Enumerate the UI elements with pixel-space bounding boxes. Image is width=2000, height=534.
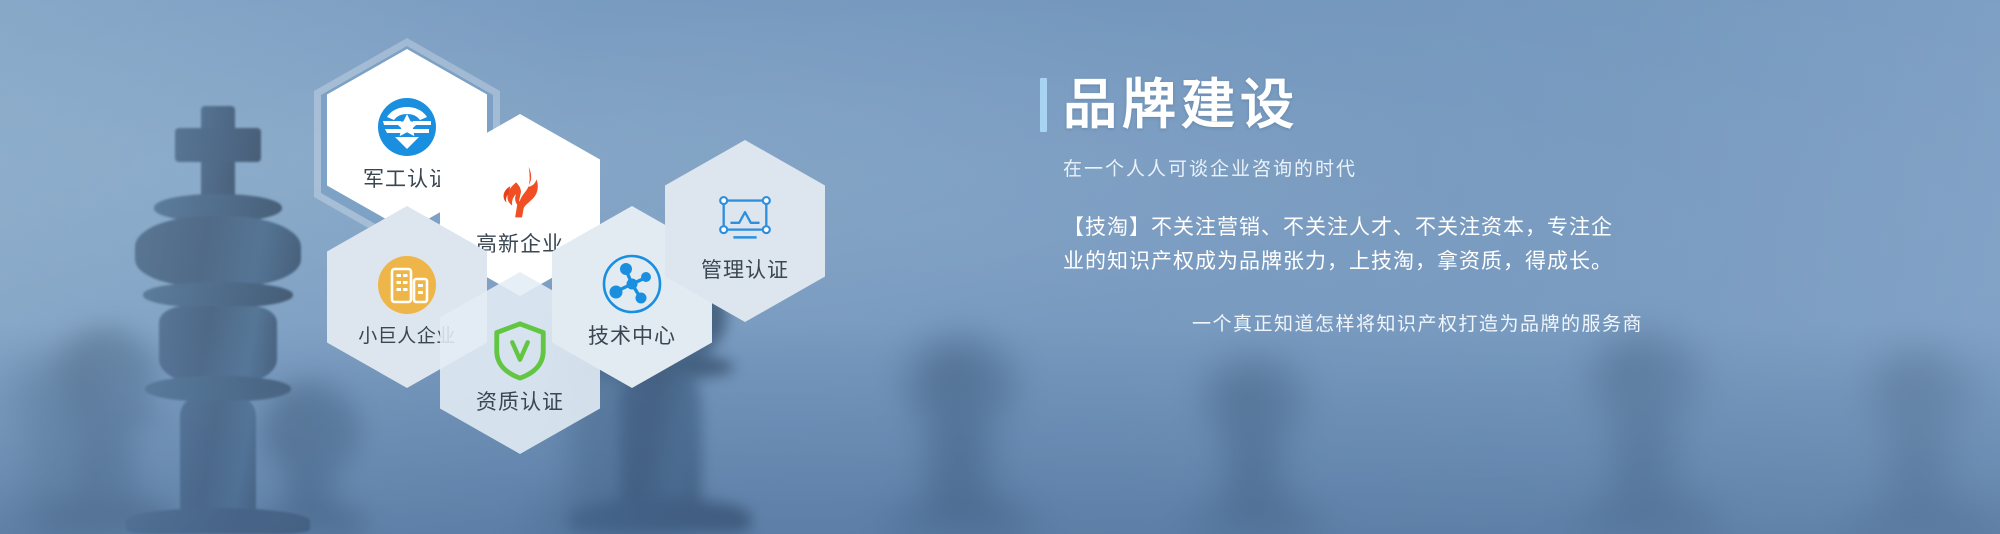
- military-shield-star-icon: [371, 91, 443, 163]
- banner-body-copy: 【技淘】不关注营销、不关注人才、不关注资本，专注企 业的知识产权成为品牌张力，上…: [1063, 211, 1643, 279]
- badge-label: 技术中心: [588, 326, 676, 347]
- page-title: 品牌建设: [1063, 78, 1299, 132]
- brand-building-banner: 军工认证 高新企业: [0, 0, 2000, 534]
- title-row: 品牌建设: [1040, 78, 1740, 132]
- body-line-1: 【技淘】不关注营销、不关注人才、不关注资本，专注企: [1063, 211, 1643, 245]
- shield-check-v-icon: [484, 314, 556, 386]
- certification-badge-cluster: 军工认证 高新企业: [300, 22, 980, 382]
- molecule-network-icon: [596, 248, 668, 320]
- banner-tagline: 一个真正知道怎样将知识产权打造为品牌的服务商: [1063, 309, 1643, 336]
- badge-label: 资质认证: [476, 392, 564, 413]
- badge-label: 军工认证: [363, 169, 451, 190]
- flame-torch-icon: [484, 156, 556, 228]
- banner-subtitle: 在一个人人可谈企业咨询的时代: [1063, 154, 1740, 181]
- badge-label: 高新企业: [476, 234, 564, 255]
- building-circle-icon: [371, 249, 443, 321]
- title-accent-bar: [1040, 78, 1047, 132]
- badge-label: 管理认证: [701, 260, 789, 281]
- banner-text-block: 品牌建设 在一个人人可谈企业咨询的时代 【技淘】不关注营销、不关注人才、不关注资…: [1040, 78, 1740, 336]
- chart-frame-icon: [709, 182, 781, 254]
- body-line-2: 业的知识产权成为品牌张力，上技淘，拿资质，得成长。: [1063, 245, 1643, 279]
